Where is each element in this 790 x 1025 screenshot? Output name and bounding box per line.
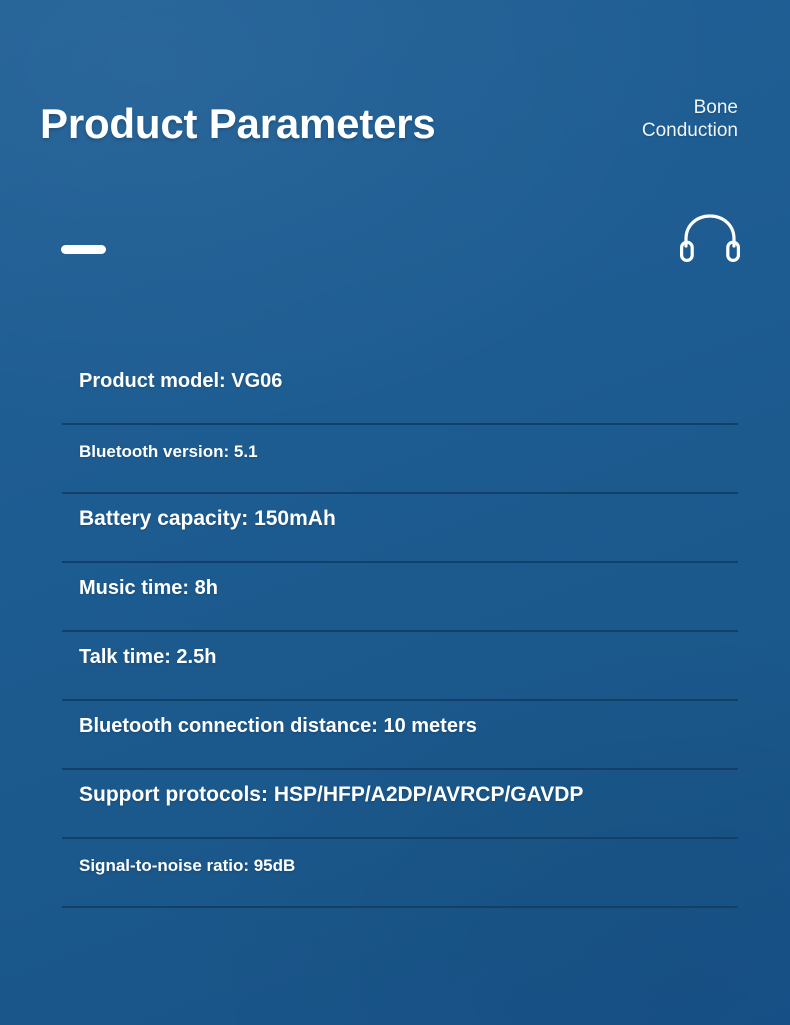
- spec-row: Music time: 8h: [62, 563, 738, 632]
- spec-row-text: Talk time: 2.5h: [79, 646, 216, 669]
- product-kind-line-2: Conduction: [518, 119, 738, 142]
- product-kind-label: Bone Conduction: [518, 96, 738, 142]
- page-title: Product Parameters: [40, 100, 436, 148]
- spec-row: Support protocols: HSP/HFP/A2DP/AVRCP/GA…: [62, 770, 738, 839]
- spec-row-text: Bluetooth connection distance: 10 meters: [79, 715, 477, 738]
- spec-row-text: Music time: 8h: [79, 577, 218, 600]
- spec-row: Battery capacity: 150mAh: [62, 494, 738, 563]
- spec-row: Bluetooth connection distance: 10 meters: [62, 701, 738, 770]
- title-accent-dash: [61, 245, 106, 254]
- spec-row: Talk time: 2.5h: [62, 632, 738, 701]
- spec-row-text: Signal-to-noise ratio: 95dB: [79, 856, 295, 876]
- spec-row-text: Support protocols: HSP/HFP/A2DP/AVRCP/GA…: [79, 783, 583, 807]
- product-kind-line-1: Bone: [518, 96, 738, 119]
- spec-row-text: Product model: VG06: [79, 370, 282, 393]
- spec-list: Product model: VG06 Bluetooth version: 5…: [62, 356, 738, 908]
- spec-row: Bluetooth version: 5.1: [62, 425, 738, 494]
- spec-row: Product model: VG06: [62, 356, 738, 425]
- headphones-icon: [678, 212, 742, 264]
- spec-row-text: Bluetooth version: 5.1: [79, 442, 258, 462]
- spec-row-text: Battery capacity: 150mAh: [79, 507, 336, 531]
- spec-row: Signal-to-noise ratio: 95dB: [62, 839, 738, 908]
- product-parameters-page: Product Parameters Bone Conduction Produ…: [0, 0, 790, 1025]
